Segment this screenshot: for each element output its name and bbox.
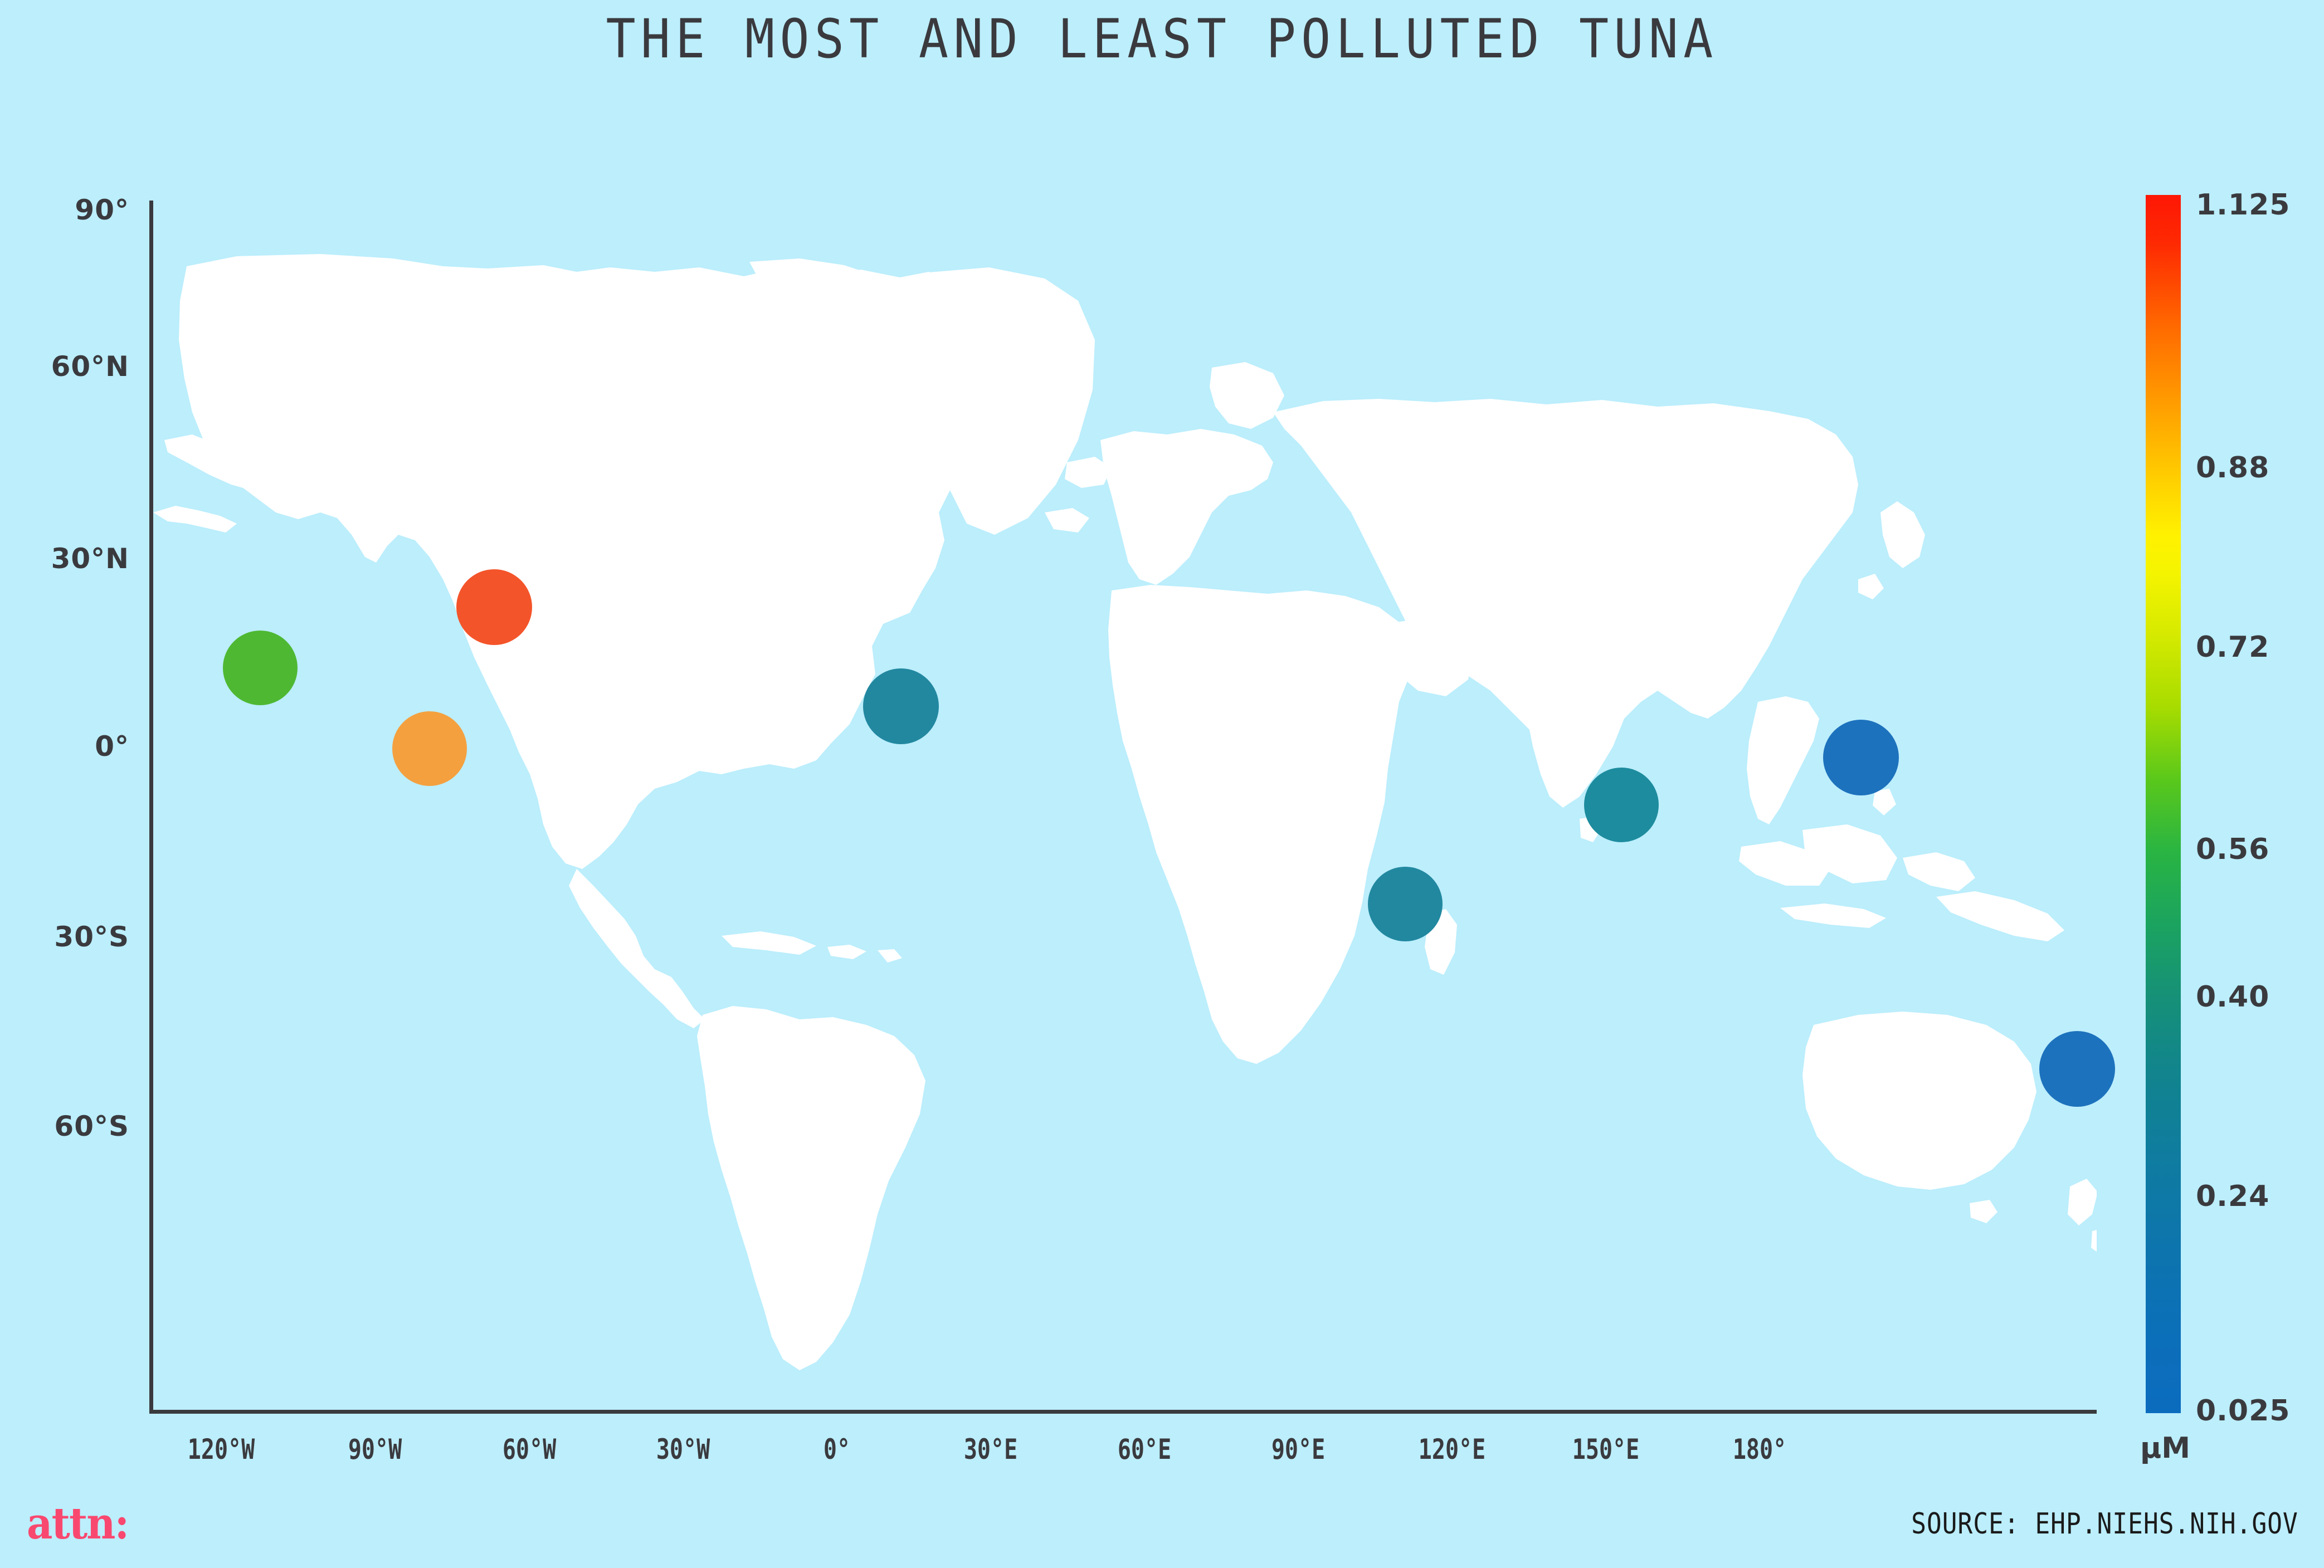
y-tick-label: 60°N [0,350,129,383]
x-tick-label: 0° [824,1433,850,1466]
data-point-western-north-pacific[interactable] [1823,720,1899,795]
world-map-landmass-svg [153,201,2097,1410]
colorbar-tick-label: 0.24 [2196,1180,2269,1213]
x-tick-label: 120°W [188,1433,255,1466]
y-tick-label: 0° [0,730,129,763]
colorbar-gradient-strip [2146,195,2181,1413]
colorbar-unit-label: µM [2140,1432,2190,1465]
map-plot-area [149,201,2097,1414]
page-title: THE MOST AND LEAST POLLUTED TUNA [93,8,2231,70]
x-tick-label: 90°W [348,1433,402,1466]
y-tick-label: 90° [0,194,129,226]
y-axis-line [149,201,153,1414]
x-tick-label: 150°E [1572,1433,1639,1466]
data-point-southwest-pacific[interactable] [2039,1031,2115,1107]
x-tick-label: 120°E [1419,1433,1485,1466]
data-point-northwest-atlantic[interactable] [456,569,532,645]
colorbar-tick-label: 1.125 [2196,188,2290,222]
data-point-eastern-north-pacific[interactable] [223,631,298,705]
colorbar-legend: 1.1250.880.720.560.400.240.025 µM [2146,195,2313,1454]
data-point-eastern-tropical-atlantic[interactable] [863,668,939,744]
colorbar-tick-label: 0.40 [2196,980,2269,1014]
x-axis-line [149,1410,2097,1414]
y-tick-label: 30°N [0,543,129,575]
x-tick-label: 180° [1733,1433,1786,1466]
colorbar-tick-label: 0.72 [2196,631,2269,664]
x-tick-label: 60°W [502,1433,556,1466]
data-point-western-indian-ocean[interactable] [1368,867,1443,941]
attn-brand-logo[interactable]: attn: [27,1498,128,1549]
source-attribution: SOURCE: EHP.NIEHS.NIH.GOV [1911,1507,2298,1541]
x-tick-label: 60°E [1118,1433,1171,1466]
y-tick-label: 60°S [0,1110,129,1142]
colorbar-tick-label: 0.56 [2196,833,2269,866]
world-map [153,201,2097,1410]
colorbar-tick-label: 0.025 [2196,1394,2290,1428]
x-tick-label: 90°E [1271,1433,1325,1466]
x-tick-label: 30°E [964,1433,1017,1466]
x-tick-label: 30°W [656,1433,709,1466]
colorbar-tick-label: 0.88 [2196,451,2269,485]
y-tick-label: 30°S [0,921,129,953]
data-point-gulf-of-mexico[interactable] [392,711,467,786]
data-point-south-china-sea[interactable] [1584,768,1659,842]
